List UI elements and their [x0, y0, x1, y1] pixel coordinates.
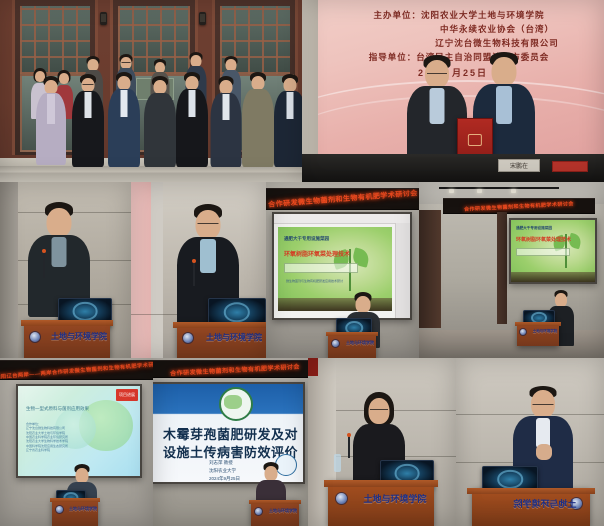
hall-banner-text-3: 沈阳辽台两岸——两岸合作研发微生物菌剂和生物有机肥学术研讨会	[0, 360, 153, 380]
hall-banner-2: 合作研发微生物菌剂和生物有机肥学术研讨会	[443, 198, 595, 214]
slide-title-3: 生物一型式原料与菌剂应用效果	[26, 406, 89, 412]
photo-collage: Group photo of delegates in front of a b…	[0, 0, 604, 526]
podium-label-4: 土地与环境学院	[517, 329, 566, 334]
presentation-photo-2: 合作研发微生物菌剂和生物有机肥学术研讨会 通肥大千专用设施菜园 环氧树脂环氧菜处…	[419, 182, 604, 358]
speaker-photo-4: 土地与环境学院	[456, 358, 604, 526]
speaker-photo-3-female: 土地与环境学院	[308, 358, 456, 526]
hall-banner-1: 合作研发微生物菌剂和生物有机肥学术研讨会	[266, 188, 419, 210]
hall-banner-4: 合作研发微生物菌剂和生物有机肥学术研讨会	[153, 360, 308, 378]
slide-title-4-line1: 木霉芽孢菌肥研发及对	[163, 424, 298, 443]
slide-header-1: 通肥大千专用设施菜园	[284, 236, 329, 242]
slide-title-2: 环氧树脂环氧菜处理技术	[516, 236, 571, 243]
podium-label-5: 土地与环境学院	[52, 506, 106, 512]
podium-label-6: 土地与环境学院	[251, 508, 307, 514]
hall-banner-text-2: 合作研发微生物菌剂和生物有机肥学术研讨会	[464, 200, 574, 213]
slide-body-3: 合作单位： 辽宁沈台微生物科技有限公司 沈阳农业大学土地与环境学院 中国农业科学…	[26, 422, 68, 452]
presentation-photo-1: 合作研发微生物菌剂和生物有机肥学术研讨会 通肥大千专用设施菜园 环氧树脂环氧菜处…	[266, 182, 419, 358]
podium-label-1: 土地与环境学院	[24, 331, 122, 342]
nameplate-text: 宋鹏在	[499, 161, 539, 170]
speaker-photo-2: 土地与环境学院	[131, 182, 266, 358]
slide-affiliation-4: 沈阳农业大学	[209, 468, 236, 474]
backdrop-line-1: 主办单位：沈阳农业大学土地与环境学院	[302, 9, 604, 21]
podium-label-7: 土地与环境学院	[328, 492, 448, 505]
presentation-photo-4: 合作研发微生物菌剂和生物有机肥学术研讨会 木霉芽孢菌肥研发及对 设施土传病害防效…	[153, 358, 308, 526]
presentation-photo-3: 沈阳辽台两岸——两岸合作研发微生物菌剂和生物有机肥学术研讨会 项目进展 生物一型…	[0, 358, 153, 526]
signing-ceremony-photo: 主办单位：沈阳农业大学土地与环境学院 中华永续农业协会（台湾） 辽宁沈台微生物科…	[302, 0, 604, 182]
podium-label-2: 土地与环境学院	[177, 332, 266, 343]
slide-date-4: 2024年9月25日	[209, 476, 240, 482]
slide-sub-1: 微生物菌剂与生物有机肥研发应用技术研讨	[286, 279, 346, 283]
slide-presenter-4: 刘志萍 教授	[209, 460, 233, 466]
speaker-photo-1: 土地与环境学院	[0, 182, 131, 358]
hall-banner-text-1: 合作研发微生物菌剂和生物有机肥学术研讨会	[268, 188, 418, 210]
group-photo-outdoor: Group photo of delegates in front of a b…	[0, 0, 302, 182]
backdrop-line-2: 中华永续农业协会（台湾）	[302, 23, 604, 35]
podium-label-3: 土地与环境学院	[328, 340, 384, 346]
backdrop-line-3: 辽宁沈台微生物科技有限公司	[302, 37, 604, 49]
slide-title-1: 环氧树脂环氧菜处理技术	[284, 249, 350, 258]
podium-label-8: 土地与环境学院	[472, 497, 604, 510]
nameplate: 宋鹏在	[498, 159, 540, 172]
slide-header-2: 通肥大千专用设施菜园	[516, 226, 552, 231]
hall-banner-text-4: 合作研发微生物菌剂和生物有机肥学术研讨会	[170, 361, 300, 377]
hall-banner-3: 沈阳辽台两岸——两岸合作研发微生物菌剂和生物有机肥学术研讨会	[0, 360, 153, 380]
